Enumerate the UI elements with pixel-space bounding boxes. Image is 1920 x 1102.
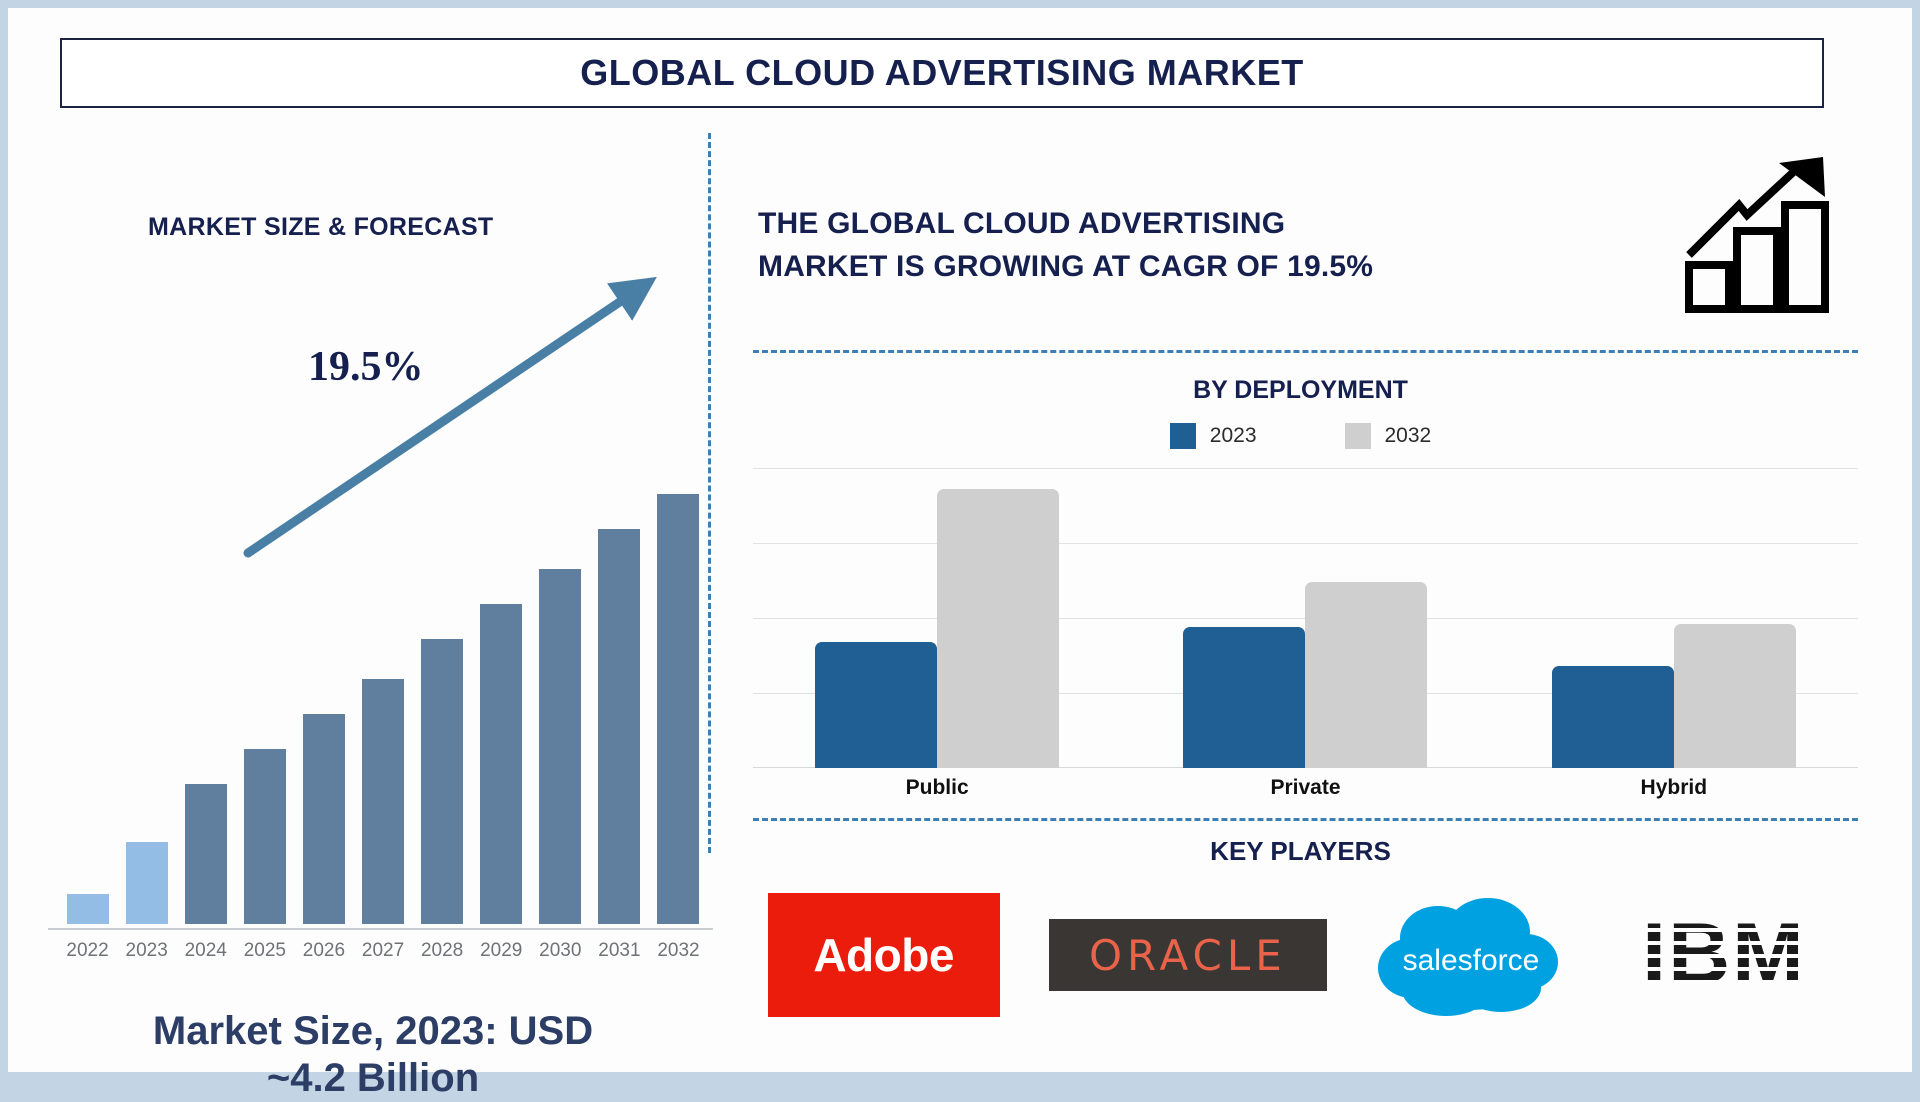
bar-2028 bbox=[421, 639, 463, 924]
market-size-column bbox=[472, 314, 531, 924]
year-tick: 2024 bbox=[176, 940, 235, 962]
deployment-label-public: Public bbox=[817, 776, 1057, 800]
market-size-column bbox=[413, 314, 472, 924]
deployment-section-title: BY DEPLOYMENT bbox=[743, 376, 1858, 405]
divider-bottom bbox=[753, 818, 1858, 821]
ibm-logo: IBM bbox=[1615, 905, 1833, 1005]
legend-label-2023: 2023 bbox=[1210, 424, 1257, 448]
adobe-logo: Adobe bbox=[768, 893, 1000, 1017]
market-size-column bbox=[117, 314, 176, 924]
market-size-column bbox=[531, 314, 590, 924]
bar-2026 bbox=[303, 714, 345, 924]
year-tick: 2029 bbox=[472, 940, 531, 962]
market-size-bars bbox=[58, 314, 708, 924]
year-tick: 2026 bbox=[294, 940, 353, 962]
divider-top bbox=[753, 350, 1858, 353]
bar-2027 bbox=[362, 679, 404, 924]
legend-label-2032: 2032 bbox=[1385, 424, 1432, 448]
oracle-logo: ORACLE bbox=[1049, 919, 1327, 991]
key-players-logos: Adobe ORACLE salesforce bbox=[743, 880, 1858, 1030]
market-size-heading: MARKET SIZE & FORECAST bbox=[148, 213, 494, 242]
year-tick: 2030 bbox=[531, 940, 590, 962]
vertical-divider bbox=[708, 133, 711, 853]
bar-chart-growth-icon bbox=[1683, 153, 1833, 313]
legend-swatch-2023 bbox=[1170, 423, 1196, 449]
bar-private-2023 bbox=[1183, 627, 1305, 768]
legend-item-2023: 2023 bbox=[1170, 423, 1257, 449]
year-tick: 2031 bbox=[590, 940, 649, 962]
right-panel: THE GLOBAL CLOUD ADVERTISING MARKET IS G… bbox=[743, 128, 1863, 1068]
market-size-column bbox=[294, 314, 353, 924]
bar-private-2032 bbox=[1305, 582, 1427, 768]
deployment-group-hybrid bbox=[1552, 468, 1796, 768]
deployment-label-hybrid: Hybrid bbox=[1554, 776, 1794, 800]
bar-2022 bbox=[67, 894, 109, 924]
market-size-column bbox=[58, 314, 117, 924]
bar-2029 bbox=[480, 604, 522, 924]
salesforce-cloud-icon: salesforce bbox=[1376, 890, 1566, 1020]
key-players-title: KEY PLAYERS bbox=[743, 836, 1858, 867]
market-size-chart: 2022 2023 2024 2025 2026 2027 2028 2029 … bbox=[38, 298, 708, 968]
market-size-column bbox=[176, 314, 235, 924]
market-size-panel: MARKET SIZE & FORECAST 19.5% bbox=[28, 128, 708, 1058]
deployment-chart bbox=[753, 468, 1858, 768]
oracle-logo-text: ORACLE bbox=[1089, 931, 1287, 980]
deployment-label-private: Private bbox=[1185, 776, 1425, 800]
salesforce-logo: salesforce bbox=[1376, 890, 1566, 1020]
title-banner: GLOBAL CLOUD ADVERTISING MARKET bbox=[60, 38, 1824, 108]
headline-line-2: MARKET IS GROWING AT CAGR OF 19.5% bbox=[758, 246, 1538, 289]
salesforce-logo-text: salesforce bbox=[1403, 944, 1540, 977]
market-size-column bbox=[235, 314, 294, 924]
bar-hybrid-2032 bbox=[1674, 624, 1796, 768]
page-title: GLOBAL CLOUD ADVERTISING MARKET bbox=[580, 52, 1304, 94]
legend-swatch-2032 bbox=[1345, 423, 1371, 449]
deployment-category-labels: Public Private Hybrid bbox=[753, 776, 1858, 800]
market-size-caption: Market Size, 2023: USD ~4.2 Billion bbox=[28, 1008, 718, 1102]
bar-2032 bbox=[657, 494, 699, 924]
caption-line-2: ~4.2 Billion bbox=[28, 1055, 718, 1102]
caption-line-1: Market Size, 2023: USD bbox=[28, 1008, 718, 1055]
market-size-year-labels: 2022 2023 2024 2025 2026 2027 2028 2029 … bbox=[58, 934, 708, 968]
adobe-logo-text: Adobe bbox=[813, 928, 954, 982]
ibm-striped-icon: IBM bbox=[1615, 905, 1833, 1005]
deployment-group-public bbox=[815, 468, 1059, 768]
bar-2024 bbox=[185, 784, 227, 924]
headline-line-1: THE GLOBAL CLOUD ADVERTISING bbox=[758, 203, 1538, 246]
deployment-legend: 2023 2032 bbox=[743, 423, 1858, 449]
x-axis-line bbox=[48, 928, 713, 930]
year-tick: 2027 bbox=[353, 940, 412, 962]
year-tick: 2032 bbox=[649, 940, 708, 962]
bar-2031 bbox=[598, 529, 640, 924]
deployment-group-private bbox=[1183, 468, 1427, 768]
legend-item-2032: 2032 bbox=[1345, 423, 1432, 449]
year-tick: 2028 bbox=[413, 940, 472, 962]
market-size-column bbox=[590, 314, 649, 924]
bar-2023 bbox=[126, 842, 168, 924]
year-tick: 2025 bbox=[235, 940, 294, 962]
cagr-headline: THE GLOBAL CLOUD ADVERTISING MARKET IS G… bbox=[758, 203, 1538, 288]
year-tick: 2022 bbox=[58, 940, 117, 962]
infographic-page: GLOBAL CLOUD ADVERTISING MARKET MARKET S… bbox=[8, 8, 1912, 1072]
bar-2025 bbox=[244, 749, 286, 924]
year-tick: 2023 bbox=[117, 940, 176, 962]
market-size-column bbox=[649, 314, 708, 924]
bar-hybrid-2023 bbox=[1552, 666, 1674, 768]
bar-2030 bbox=[539, 569, 581, 924]
deployment-bar-groups bbox=[753, 468, 1858, 768]
bar-public-2023 bbox=[815, 642, 937, 768]
market-size-column bbox=[353, 314, 412, 924]
bar-public-2032 bbox=[937, 489, 1059, 768]
